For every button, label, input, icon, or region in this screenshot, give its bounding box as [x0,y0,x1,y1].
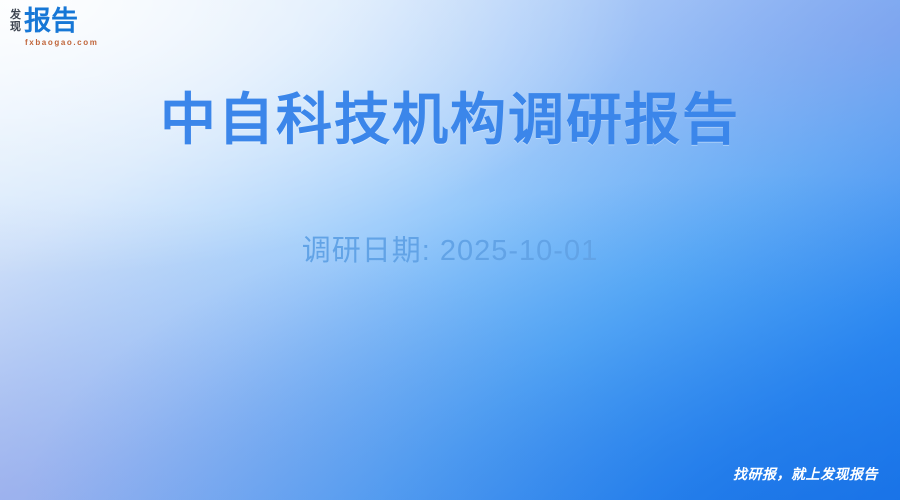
logo-char-bottom: 现 [10,21,21,33]
logo-text-group: 报告 fxbaogao.com [24,7,98,48]
footer-slogan: 找研报，就上发现报告 [733,465,878,483]
logo-stacked-characters: 发 现 [10,7,21,33]
report-cover-slide: 发 现 报告 fxbaogao.com 中自科技机构调研报告 调研日期: 202… [0,0,900,500]
page-title: 中自科技机构调研报告 [0,86,900,154]
survey-date-subtitle: 调研日期: 2025-10-01 [0,231,900,271]
title-block: 中自科技机构调研报告 [0,86,900,154]
logo-wordmark: 报告 [24,7,98,35]
logo-domain-text: fxbaogao.com [25,38,98,48]
brand-logo[interactable]: 发 现 报告 fxbaogao.com [10,7,98,48]
logo-char-top: 发 [10,9,21,21]
